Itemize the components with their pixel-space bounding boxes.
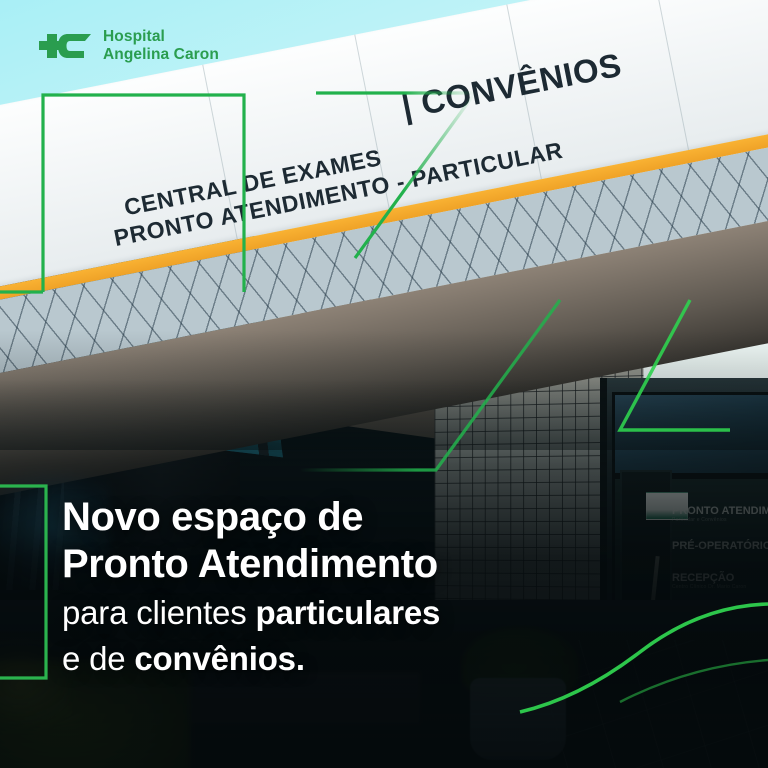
brand-name-line-1: Hospital	[103, 28, 219, 46]
headline-block: Novo espaço de Pronto Atendimento para c…	[62, 494, 582, 680]
headline-line-1: Novo espaço de	[62, 494, 582, 541]
headline-line-4-plain: e de	[62, 640, 134, 677]
headline-line-3: para clientes particulares	[62, 591, 582, 634]
brand-logo-wordmark: Hospital Angelina Caron	[103, 28, 219, 64]
headline-line-3-bold: particulares	[255, 594, 440, 631]
headline-line-4: e de convênios.	[62, 637, 582, 680]
headline-line-4-bold: convênios.	[134, 640, 304, 677]
brand-logo[interactable]: Hospital Angelina Caron	[38, 28, 219, 64]
headline-line-2: Pronto Atendimento	[62, 541, 582, 588]
brand-name-line-2: Angelina Caron	[103, 46, 219, 64]
headline-line-3-plain: para clientes	[62, 594, 255, 631]
promo-poster: CENTRO CLÍNICO PRONTO ATENDIMENTO Partic…	[0, 0, 768, 768]
hospital-cross-c-logo-icon	[38, 29, 92, 63]
